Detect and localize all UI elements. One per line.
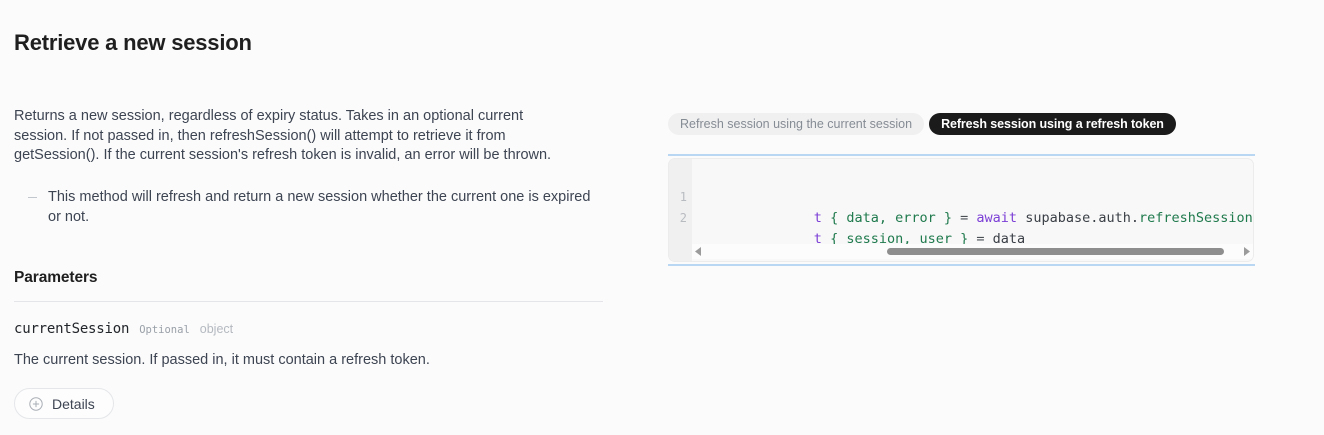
scrollbar-track[interactable] (705, 244, 1240, 259)
details-button-label: Details (52, 396, 95, 412)
code-token: refreshSession (1139, 210, 1253, 226)
line-number: 2 (669, 208, 692, 229)
details-button[interactable]: Details (14, 388, 114, 419)
plus-circle-icon (29, 397, 43, 411)
scrollbar-thumb[interactable] (887, 248, 1224, 255)
code-lines: 1 t { data, error } = await supabase.aut… (669, 187, 1253, 229)
note-list: This method will refresh and return a ne… (14, 166, 614, 228)
code-token: ({ refresh_token }) (1253, 210, 1254, 226)
triangle-right-icon[interactable] (1240, 247, 1253, 256)
page-title: Retrieve a new session (14, 0, 614, 58)
note-text: This method will refresh and return a ne… (48, 189, 590, 225)
code-example-wrapper: 1 t { data, error } = await supabase.aut… (668, 154, 1255, 266)
parameter-name: currentSession (14, 321, 129, 337)
code-token: supabase.auth. (1017, 210, 1139, 226)
triangle-left-icon[interactable] (692, 247, 705, 256)
example-tabs: Refresh session using the current sessio… (668, 0, 1258, 135)
intro-paragraph: Returns a new session, regardless of exp… (14, 58, 579, 166)
code-line: 1 t { data, error } = await supabase.aut… (669, 187, 1253, 208)
tab-refresh-token[interactable]: Refresh session using a refresh token (929, 113, 1176, 135)
example-panel: Refresh session using the current sessio… (668, 0, 1258, 266)
horizontal-scrollbar[interactable] (692, 244, 1253, 259)
line-number: 1 (669, 187, 692, 208)
parameter-type: object (200, 322, 233, 336)
code-top-rule (668, 154, 1255, 156)
parameters-heading: Parameters (14, 227, 614, 287)
doc-content-column: Retrieve a new session Returns a new ses… (14, 0, 614, 419)
tab-refresh-current-session[interactable]: Refresh session using the current sessio… (668, 113, 924, 135)
list-item: This method will refresh and return a ne… (14, 188, 600, 228)
parameter-description: The current session. If passed in, it mu… (14, 337, 614, 370)
documentation-page: Retrieve a new session Returns a new ses… (0, 0, 1324, 435)
parameter-optional-badge: Optional (139, 324, 190, 336)
dash-bullet-icon (28, 197, 37, 199)
parameter-header-row: currentSession Optional object (14, 302, 614, 337)
code-block[interactable]: 1 t { data, error } = await supabase.aut… (668, 158, 1254, 262)
code-bottom-rule (668, 264, 1255, 266)
